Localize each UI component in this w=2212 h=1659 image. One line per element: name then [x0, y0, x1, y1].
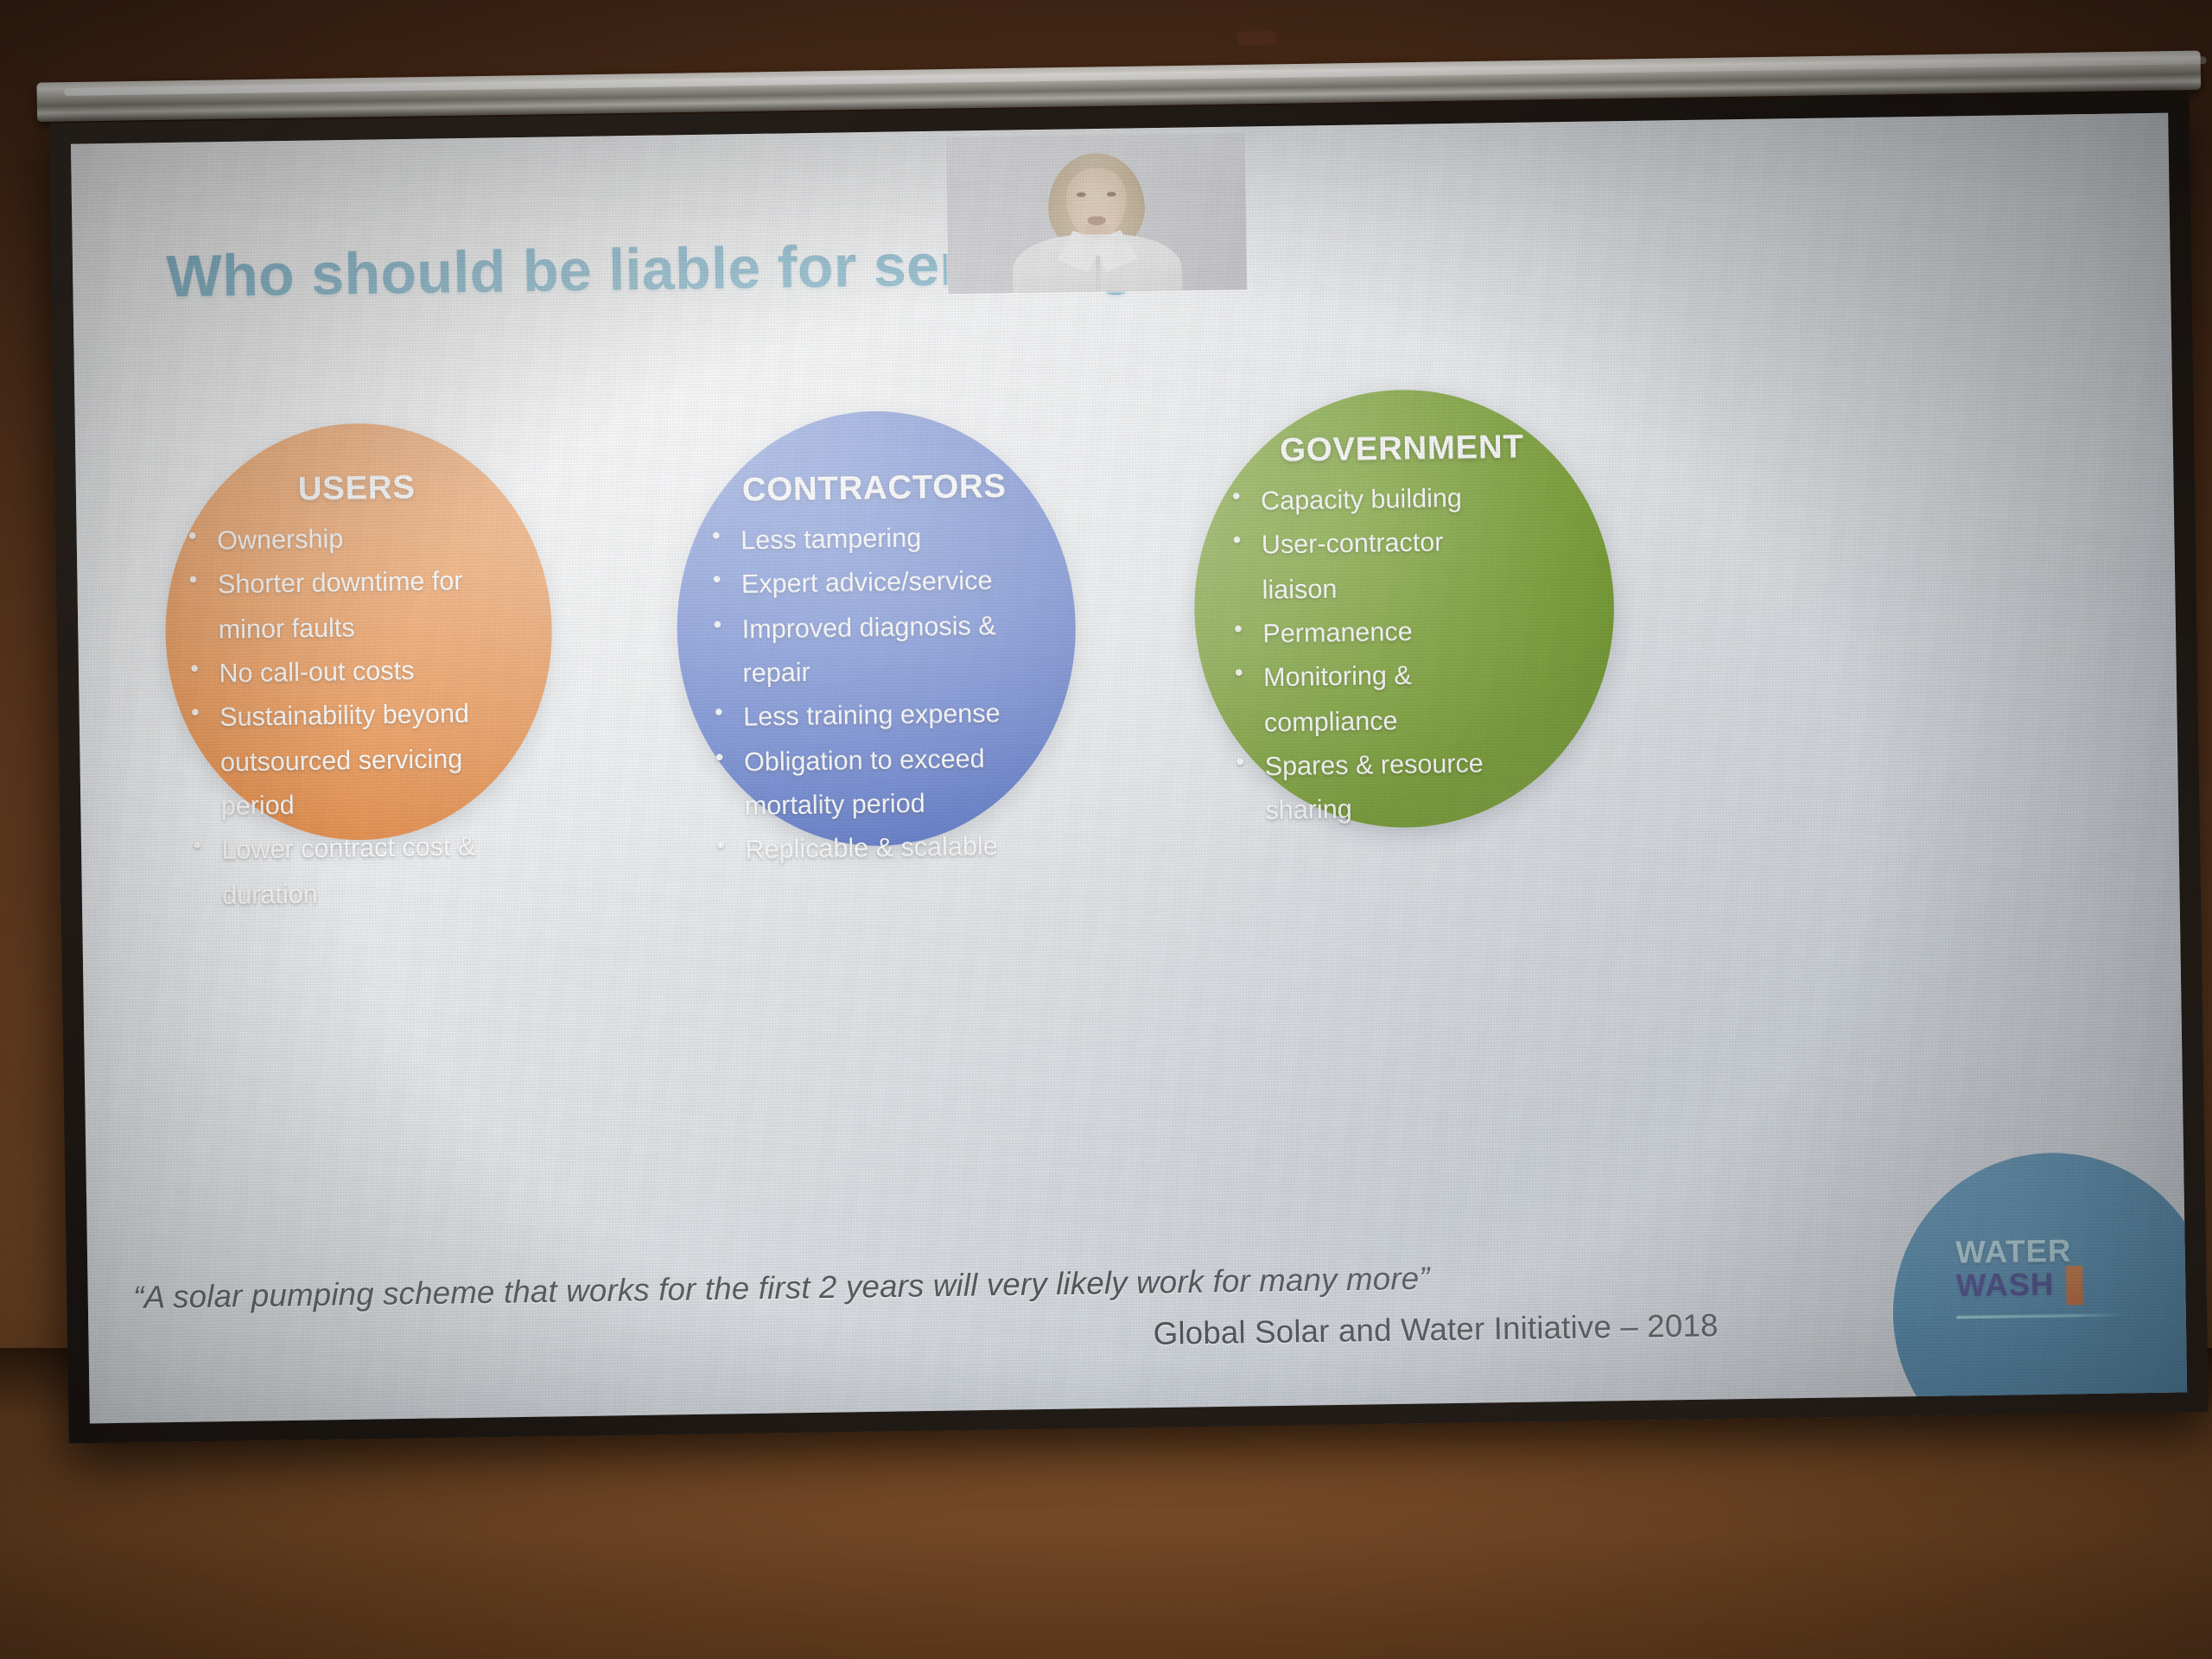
- list-item: Shorter downtime for: [182, 559, 539, 607]
- list-item: Ownership: [182, 514, 539, 563]
- list-item: Obligation to exceed: [709, 735, 1069, 784]
- circle-government-bullets: Capacity buildingUser-contractorliaisonP…: [1226, 474, 1609, 834]
- list-item: No call-out costs: [184, 647, 541, 696]
- screen-bezel: Who should be liable for servicing?: [49, 92, 2209, 1444]
- list-item: sharing: [1230, 785, 1608, 833]
- circle-users-heading: USERS: [163, 466, 550, 511]
- logo-underline-rule: [1956, 1313, 2126, 1318]
- list-item: duration: [188, 868, 544, 917]
- projection-screen-assembly: Who should be liable for servicing?: [16, 50, 2212, 1471]
- list-item: Expert advice/service: [706, 558, 1065, 607]
- roller-bar-highlight: [64, 56, 2207, 96]
- list-item: Replicable & scalable: [710, 824, 1070, 873]
- circle-users-bullets: OwnershipShorter downtime forminor fault…: [182, 514, 544, 918]
- list-item: period: [186, 780, 543, 829]
- list-item: Improved diagnosis &: [707, 602, 1066, 651]
- presenter-webcam-tile[interactable]: [946, 132, 1247, 294]
- circle-contractors-bullets: Less tamperingExpert advice/serviceImpro…: [706, 514, 1071, 874]
- list-item: Less tampering: [706, 514, 1065, 563]
- quote-block: “A solar pumping scheme that works for t…: [133, 1257, 1733, 1369]
- waterwash-logo-badge: WATER WASH: [1891, 1151, 2187, 1424]
- list-item: outsourced servicing: [185, 735, 542, 784]
- circle-contractors: CONTRACTORS Less tamperingExpert advice/…: [674, 409, 1078, 849]
- list-item: liaison: [1227, 563, 1605, 612]
- circle-contractors-heading: CONTRACTORS: [675, 466, 1074, 511]
- circle-users: USERS OwnershipShorter downtime forminor…: [162, 421, 555, 843]
- quote-attribution: Global Solar and Water Initiative – 2018: [134, 1308, 1734, 1368]
- list-item: minor faults: [183, 603, 540, 652]
- projected-slide: Who should be liable for servicing?: [71, 113, 2187, 1424]
- list-item: Less training expense: [709, 691, 1068, 740]
- quote-text: “A solar pumping scheme that works for t…: [133, 1257, 1733, 1317]
- list-item: mortality period: [709, 779, 1069, 828]
- list-item: Spares & resource: [1230, 740, 1607, 788]
- logo-word-water: WATER: [1955, 1236, 2137, 1270]
- list-item: Capacity building: [1226, 474, 1604, 523]
- roller-mount-knob: [1237, 31, 1277, 45]
- list-item: Lower contract cost &: [187, 824, 543, 873]
- list-item: Monitoring &: [1229, 652, 1606, 700]
- webcam-glare-overlay: [946, 132, 1247, 294]
- room-wall: Who should be liable for servicing?: [0, 0, 2212, 1659]
- list-item: compliance: [1229, 696, 1606, 744]
- circle-government-heading: GOVERNMENT: [1192, 426, 1611, 472]
- logo-lockup: WATER WASH: [1955, 1236, 2138, 1321]
- logo-accent-bar-icon: [2066, 1265, 2083, 1305]
- logo-subtitle: [1956, 1319, 2138, 1321]
- logo-word-wash: WASH: [1956, 1268, 2138, 1302]
- logo-wash-text: WASH: [1956, 1267, 2055, 1303]
- list-item: Permanence: [1228, 607, 1605, 656]
- list-item: repair: [708, 647, 1067, 696]
- circle-government: GOVERNMENT Capacity buildingUser-contrac…: [1192, 387, 1618, 831]
- list-item: User-contractor: [1226, 518, 1604, 567]
- list-item: Sustainability beyond: [185, 691, 542, 740]
